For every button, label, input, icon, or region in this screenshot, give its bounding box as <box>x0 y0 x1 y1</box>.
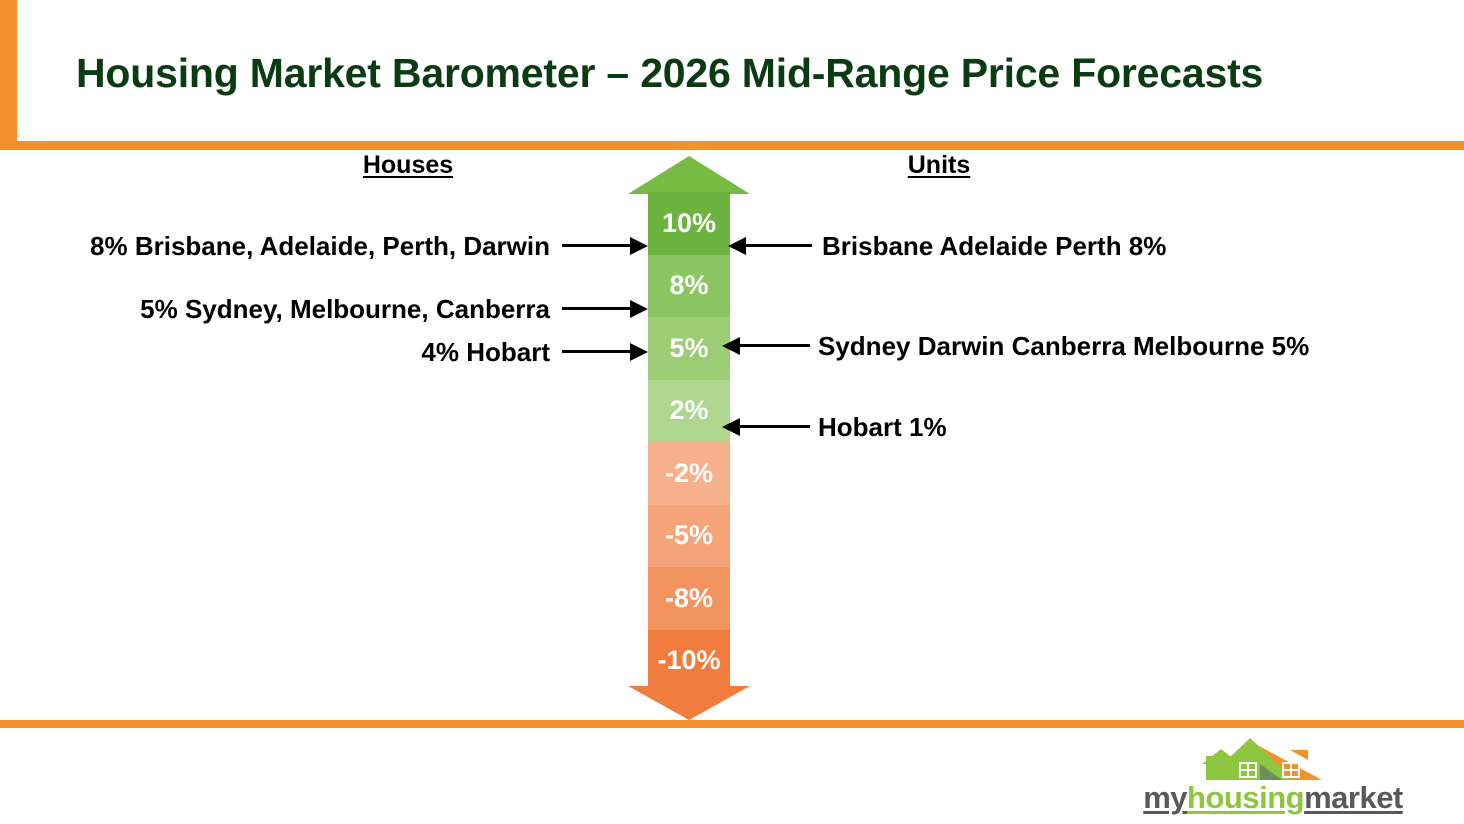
column-heading-units: Units <box>898 151 980 180</box>
band-minus-2: -2% <box>648 442 730 505</box>
callout-houses-1: 8% Brisbane, Adelaide, Perth, Darwin <box>20 231 550 262</box>
header-accent-bar <box>0 0 17 150</box>
callout-houses-2: 5% Sydney, Melbourne, Canberra <box>20 294 550 325</box>
band-label-10: 10% <box>662 208 716 239</box>
band-label-minus-10: -10% <box>657 645 720 676</box>
band-label-5: 5% <box>669 333 708 364</box>
band-minus-5: -5% <box>648 505 730 568</box>
callout-units-1: Brisbane Adelaide Perth 8% <box>822 231 1382 262</box>
connector-line-units-2 <box>740 344 810 347</box>
arrow-head-up-icon <box>628 156 750 194</box>
band-label-2: 2% <box>669 395 708 426</box>
barometer-shaft: 10% 8% 5% 2% -2% -5% -8% -10% <box>648 192 730 692</box>
band-2: 2% <box>648 380 730 443</box>
band-minus-8: -8% <box>648 567 730 630</box>
connector-line-houses-1 <box>562 244 632 247</box>
connector-arrowhead-houses-1-icon <box>630 237 648 255</box>
band-8: 8% <box>648 255 730 318</box>
band-label-minus-2: -2% <box>665 458 713 489</box>
page-title: Housing Market Barometer – 2026 Mid-Rang… <box>76 43 1406 105</box>
brand-word-my: my <box>1143 780 1187 815</box>
house-logo-icon <box>1190 736 1322 782</box>
footer-divider-rule <box>0 720 1464 728</box>
connector-arrowhead-units-1-icon <box>728 237 746 255</box>
header-divider-rule <box>0 141 1464 150</box>
slide-canvas: Housing Market Barometer – 2026 Mid-Rang… <box>0 0 1464 824</box>
connector-arrowhead-houses-3-icon <box>630 343 648 361</box>
connector-arrowhead-houses-2-icon <box>630 300 648 318</box>
connector-line-houses-3 <box>562 350 632 353</box>
connector-line-houses-2 <box>562 307 632 310</box>
column-heading-houses: Houses <box>356 151 460 180</box>
band-label-minus-5: -5% <box>665 520 713 551</box>
brand-logo: myhousingmarket <box>1128 736 1418 818</box>
brand-wordmark: myhousingmarket <box>1128 780 1418 816</box>
band-minus-10: -10% <box>648 630 730 693</box>
brand-word-market: market <box>1304 780 1403 815</box>
connector-arrowhead-units-3-icon <box>722 418 740 436</box>
callout-units-3: Hobart 1% <box>818 412 1218 443</box>
callout-houses-3: 4% Hobart <box>20 337 550 368</box>
connector-line-units-1 <box>746 244 812 247</box>
band-label-minus-8: -8% <box>665 583 713 614</box>
brand-word-housing: housing <box>1187 780 1304 815</box>
band-label-8: 8% <box>669 270 708 301</box>
band-10: 10% <box>648 192 730 255</box>
connector-arrowhead-units-2-icon <box>722 337 740 355</box>
arrow-head-down-icon <box>628 686 750 720</box>
connector-line-units-3 <box>740 425 810 428</box>
callout-units-2: Sydney Darwin Canberra Melbourne 5% <box>818 331 1418 362</box>
band-5: 5% <box>648 317 730 380</box>
